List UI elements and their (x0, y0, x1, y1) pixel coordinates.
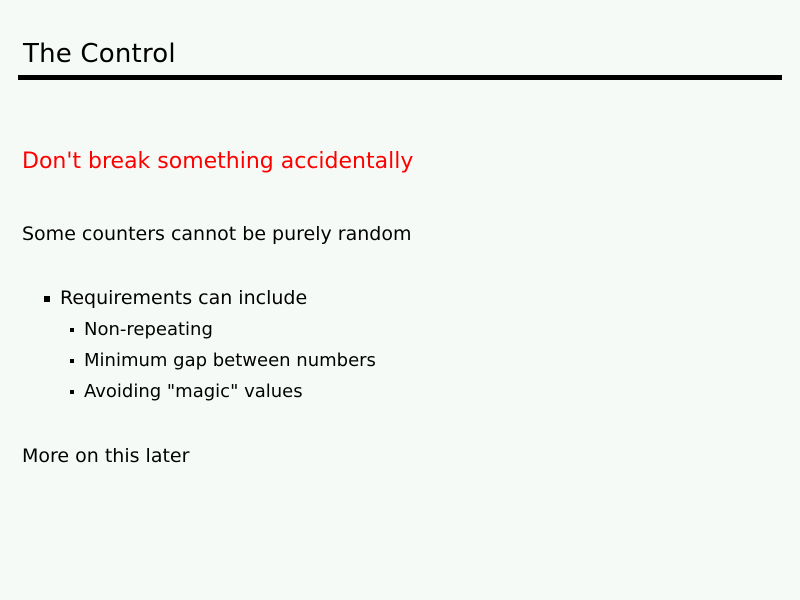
body-paragraph-two: More on this later (22, 443, 189, 469)
highlight-heading: Don't break something accidentally (22, 148, 413, 176)
slide-body: Don't break something accidentally Some … (0, 0, 800, 600)
body-paragraph-one: Some counters cannot be purely random (22, 221, 411, 247)
list-item: Avoiding "magic" values (0, 378, 800, 409)
square-bullet-icon (44, 296, 50, 302)
list-item-label: Requirements can include (60, 285, 307, 312)
list-item-label: Minimum gap between numbers (84, 347, 376, 375)
small-square-bullet-icon (70, 328, 74, 332)
presentation-slide: The Control Don't break something accide… (0, 0, 800, 600)
list-item-label: Avoiding "magic" values (84, 378, 303, 406)
bullet-list: Requirements can include Non-repeating M… (0, 285, 800, 409)
list-item: Requirements can include (0, 285, 800, 316)
list-item: Minimum gap between numbers (0, 347, 800, 378)
list-item: Non-repeating (0, 316, 800, 347)
small-square-bullet-icon (70, 359, 74, 363)
list-item-label: Non-repeating (84, 316, 213, 344)
small-square-bullet-icon (70, 390, 74, 394)
